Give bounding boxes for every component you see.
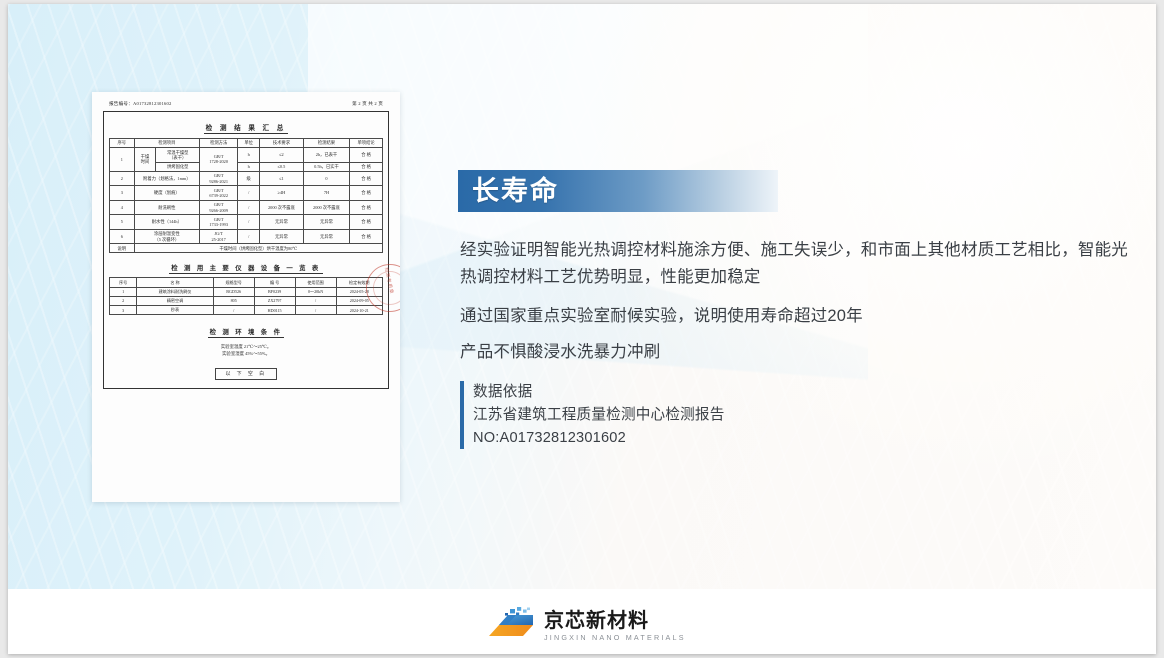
eq1-name: 建筑涂料耐洗刷仪	[137, 287, 213, 296]
jingxin-logo-svg	[486, 606, 536, 646]
eq3-name: 秒表	[137, 305, 213, 314]
blank-below-mark: 以 下 空 白	[215, 368, 276, 380]
citation-source: 江苏省建筑工程质量检测中心检测报告	[473, 404, 953, 427]
results-table: 序号 检测项目 检测方法 单位 技术要求 检测结果 单项结论 1 干燥时间 常温…	[109, 138, 383, 253]
page-info: 第 2 页 共 2 页	[352, 101, 383, 107]
row6-item: 涂层耐温变性（5 次循环）	[134, 229, 200, 244]
eq-th-code: 编 号	[254, 278, 295, 287]
row3-res: 7H	[303, 186, 349, 201]
eq1-model: BGD526	[213, 287, 254, 296]
body-paragraph-2: 通过国家重点实验室耐候实验，说明使用寿命超过20年	[460, 303, 1132, 330]
row1-group: 干燥时间	[134, 148, 156, 172]
eq-th-range: 使用范围	[295, 278, 336, 287]
row1-sub2: 烘烤固化型	[156, 162, 200, 171]
test-report-document[interactable]: 报告编号：A01732812301602 第 2 页 共 2 页 检 测 结 果…	[92, 92, 400, 502]
row3-item: 硬度（划痕）	[134, 186, 200, 201]
th-result: 检测结果	[303, 139, 349, 148]
eq3-code: HD0115	[254, 305, 295, 314]
row1-sub1: 常温干燥型（表干）	[156, 148, 200, 163]
note-text: 干燥时间（烘烤固化型）烘干温度为80℃	[134, 244, 382, 253]
row4-method: GB/T9266-2009	[200, 200, 238, 215]
row3-conc: 合 格	[350, 186, 383, 201]
page-title: 长寿命	[458, 178, 559, 205]
table-row: 2 附着力（划格法，1mm） GB/T9286-2021 级 ≤1 0 合 格	[110, 171, 383, 186]
row1-unit1: h	[238, 148, 260, 163]
th-unit: 单位	[238, 139, 260, 148]
row1-conc2: 合 格	[350, 162, 383, 171]
row3-req: ≥4H	[260, 186, 304, 201]
row3-no: 3	[110, 186, 135, 201]
logo-text: 京芯新材料 JINGXIN NANO MATERIALS	[544, 611, 686, 641]
th-method: 检测方法	[200, 139, 238, 148]
th-conc: 单项结论	[350, 139, 383, 148]
equipment-table: 序号 名 称 规格型号 编 号 使用范围 检定有效期 1 建筑涂料耐洗刷仪 BG…	[109, 277, 383, 315]
citation-label: 数据依据	[473, 381, 953, 404]
row5-res: 无异常	[303, 215, 349, 230]
th-req: 技术要求	[260, 139, 304, 148]
row5-method: GB/T1733-1993	[200, 215, 238, 230]
row5-req: 无异常	[260, 215, 304, 230]
eq2-name: 精密空调	[137, 296, 213, 305]
row6-req: 无异常	[260, 229, 304, 244]
logo-mark-icon	[486, 606, 536, 646]
eq-th-name: 名 称	[137, 278, 213, 287]
table-row: 6 涂层耐温变性（5 次循环） JG/T25-2017 / 无异常 无异常 合 …	[110, 229, 383, 244]
table-row: 3 秒表 / HD0115 / 2024-10-21	[110, 305, 383, 314]
eq2-range: /	[295, 296, 336, 305]
row6-conc: 合 格	[350, 229, 383, 244]
table-row: 1 建筑涂料耐洗刷仪 BGD526 BF0239 0～20kN 2024-05-…	[110, 287, 383, 296]
body-paragraph-1: 经实验证明智能光热调控材料施涂方便、施工失误少，和市面上其他材质工艺相比，智能光…	[460, 237, 1132, 290]
eq1-no: 1	[110, 287, 137, 296]
row6-unit: /	[238, 229, 260, 244]
eq3-no: 3	[110, 305, 137, 314]
row2-res: 0	[303, 171, 349, 186]
row4-conc: 合 格	[350, 200, 383, 215]
table-row: 2 精密空调 805 ZX2797 / 2024-09-05	[110, 296, 383, 305]
body-paragraph-3: 产品不惧酸浸水洗暴力冲刷	[460, 339, 1132, 366]
row1-req1: ≤2	[260, 148, 304, 163]
row4-unit: /	[238, 200, 260, 215]
eq3-range: /	[295, 305, 336, 314]
row6-res: 无异常	[303, 229, 349, 244]
row5-unit: /	[238, 215, 260, 230]
eq2-no: 2	[110, 296, 137, 305]
slide-canvas: 报告编号：A01732812301602 第 2 页 共 2 页 检 测 结 果…	[8, 4, 1156, 654]
environment-title: 检 测 环 境 条 件	[109, 315, 383, 341]
equipment-header-row: 序号 名 称 规格型号 编 号 使用范围 检定有效期	[110, 278, 383, 287]
row2-item: 附着力（划格法，1mm）	[134, 171, 200, 186]
row6-no: 6	[110, 229, 135, 244]
row5-conc: 合 格	[350, 215, 383, 230]
document-frame: 检 测 结 果 汇 总 序号 检测项目 检测方法 单位 技术要求 检测结果 单项…	[103, 111, 389, 389]
table-row: 4 耐洗刷性 GB/T9266-2009 / 2000 次不露底 2000 次不…	[110, 200, 383, 215]
company-logo: 京芯新材料 JINGXIN NANO MATERIALS	[486, 604, 696, 648]
row3-method: GB/T6739-2022	[200, 186, 238, 201]
section-title-banner: 长寿命	[458, 170, 778, 212]
document-header: 报告编号：A01732812301602 第 2 页 共 2 页	[103, 101, 389, 111]
note-label: 说明	[110, 244, 135, 253]
eq1-range: 0～20kN	[295, 287, 336, 296]
row1-res1: 2h，已表干	[303, 148, 349, 163]
row1-req2: ≤0.5	[260, 162, 304, 171]
logo-name-en: JINGXIN NANO MATERIALS	[544, 634, 686, 641]
table-header-row: 序号 检测项目 检测方法 单位 技术要求 检测结果 单项结论	[110, 139, 383, 148]
row1-conc1: 合 格	[350, 148, 383, 163]
table-row: 5 耐水性（144h） GB/T1733-1993 / 无异常 无异常 合 格	[110, 215, 383, 230]
row4-item: 耐洗刷性	[134, 200, 200, 215]
row2-method: GB/T9286-2021	[200, 171, 238, 186]
row1-res2: 0.5h，已实干	[303, 162, 349, 171]
row4-res: 2000 次不露底	[303, 200, 349, 215]
row2-conc: 合 格	[350, 171, 383, 186]
th-no: 序号	[110, 139, 135, 148]
eq-th-no: 序号	[110, 278, 137, 287]
eq2-code: ZX2797	[254, 296, 295, 305]
note-row: 说明 干燥时间（烘烤固化型）烘干温度为80℃	[110, 244, 383, 253]
row5-no: 5	[110, 215, 135, 230]
citation-number: NO:A01732812301602	[473, 427, 953, 450]
eq2-model: 805	[213, 296, 254, 305]
th-item: 检测项目	[134, 139, 200, 148]
citation-block: 数据依据 江苏省建筑工程质量检测中心检测报告 NO:A0173281230160…	[460, 381, 953, 449]
row2-req: ≤1	[260, 171, 304, 186]
eq1-code: BF0239	[254, 287, 295, 296]
table-row: 1 干燥时间 常温干燥型（表干） GB/T1728-2020 h ≤2 2h，已…	[110, 148, 383, 163]
row4-no: 4	[110, 200, 135, 215]
report-number: 报告编号：A01732812301602	[109, 101, 171, 107]
row1-no: 1	[110, 148, 135, 172]
row6-method: JG/T25-2017	[200, 229, 238, 244]
equipment-table-title: 检 测 用 主 要 仪 器 设 备 一 览 表	[109, 253, 383, 277]
row1-method: GB/T1728-2020	[200, 148, 238, 172]
eq-th-model: 规格型号	[213, 278, 254, 287]
row5-item: 耐水性（144h）	[134, 215, 200, 230]
row3-unit: /	[238, 186, 260, 201]
row2-unit: 级	[238, 171, 260, 186]
table-row: 3 硬度（划痕） GB/T6739-2022 / ≥4H 7H 合 格	[110, 186, 383, 201]
row1-unit2: h	[238, 162, 260, 171]
eq3-model: /	[213, 305, 254, 314]
logo-name-cn: 京芯新材料	[544, 611, 686, 631]
document-title: 检 测 结 果 汇 总	[109, 117, 383, 138]
row4-req: 2000 次不露底	[260, 200, 304, 215]
row2-no: 2	[110, 171, 135, 186]
environment-conditions: 实验室温度 21℃～25℃。 实验室湿度 45%～55%。 以 下 空 白	[109, 341, 383, 380]
